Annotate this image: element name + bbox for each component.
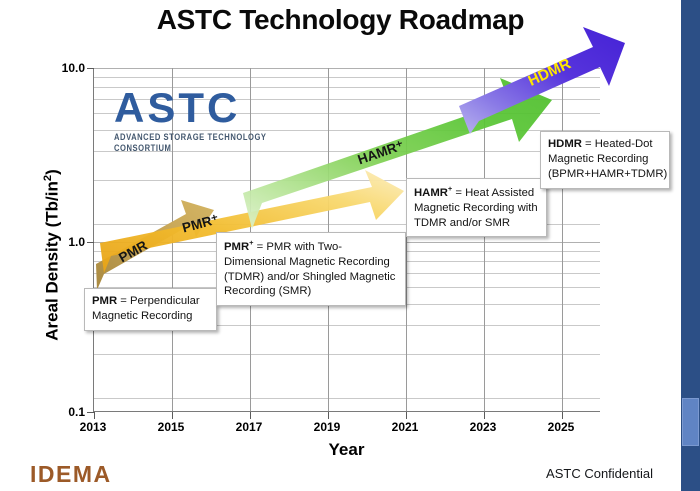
gridline-minor: [94, 398, 600, 399]
xtick-mark: [328, 412, 329, 419]
callout-hamr-plus: HAMR+ = Heat Assisted Magnetic Recording…: [406, 178, 547, 237]
gridline-minor: [94, 77, 600, 78]
scrollbar-thumb[interactable]: [682, 398, 699, 446]
y-axis-title-tail: ): [43, 169, 62, 175]
astc-logo: ASTC ADVANCED STORAGE TECHNOLOGY CONSORT…: [114, 88, 309, 149]
xtick-mark: [94, 412, 95, 419]
xtick-mark: [562, 412, 563, 419]
ytick-label-10: 10.0: [45, 61, 85, 75]
xtick-label-2019: 2019: [297, 420, 357, 434]
callout-hamr-plus-term: HAMR: [414, 187, 448, 199]
idema-logo: IDEMA: [30, 461, 112, 488]
ytick-mark: [87, 412, 94, 413]
xtick-mark: [406, 412, 407, 419]
callout-pmr-plus: PMR+ = PMR with Two-Dimensional Magnetic…: [216, 232, 406, 306]
confidential-label: ASTC Confidential: [546, 466, 653, 481]
gridline-2021: [406, 68, 407, 411]
vertical-scrollbar[interactable]: [681, 0, 700, 491]
callout-hdmr: HDMR = Heated-Dot Magnetic Recording (BP…: [540, 131, 670, 189]
callout-pmr-plus-term: PMR: [224, 241, 249, 253]
callout-hdmr-term: HDMR: [548, 138, 582, 150]
page-title: ASTC Technology Roadmap: [0, 4, 681, 36]
astc-logo-tagline: ADVANCED STORAGE TECHNOLOGY CONSORTIUM: [114, 131, 309, 154]
gridline-2025: [562, 68, 563, 411]
ytick-mark: [87, 68, 94, 69]
gridline-2023: [484, 68, 485, 411]
slide-canvas: ASTC Technology Roadmap: [0, 0, 681, 491]
y-axis-title: Areal Density (Tb/in2): [42, 140, 63, 370]
gridline-minor: [94, 354, 600, 355]
xtick-label-2013: 2013: [63, 420, 123, 434]
xtick-mark: [484, 412, 485, 419]
callout-pmr: PMR = Perpendicular Magnetic Recording: [84, 288, 217, 331]
ytick-label-01: 0.1: [45, 405, 85, 419]
xtick-label-2017: 2017: [219, 420, 279, 434]
xtick-label-2015: 2015: [141, 420, 201, 434]
xtick-mark: [250, 412, 251, 419]
x-axis-title: Year: [93, 440, 600, 460]
ytick-mark: [87, 242, 94, 243]
xtick-mark: [172, 412, 173, 419]
gridline-10: [94, 68, 600, 69]
y-axis-title-text: Areal Density (Tb/in: [43, 181, 62, 341]
astc-logo-wordmark: ASTC: [114, 88, 309, 128]
xtick-label-2021: 2021: [375, 420, 435, 434]
xtick-label-2023: 2023: [453, 420, 513, 434]
callout-pmr-term: PMR: [92, 295, 117, 307]
y-axis-title-sup: 2: [42, 175, 54, 181]
xtick-label-2025: 2025: [531, 420, 591, 434]
